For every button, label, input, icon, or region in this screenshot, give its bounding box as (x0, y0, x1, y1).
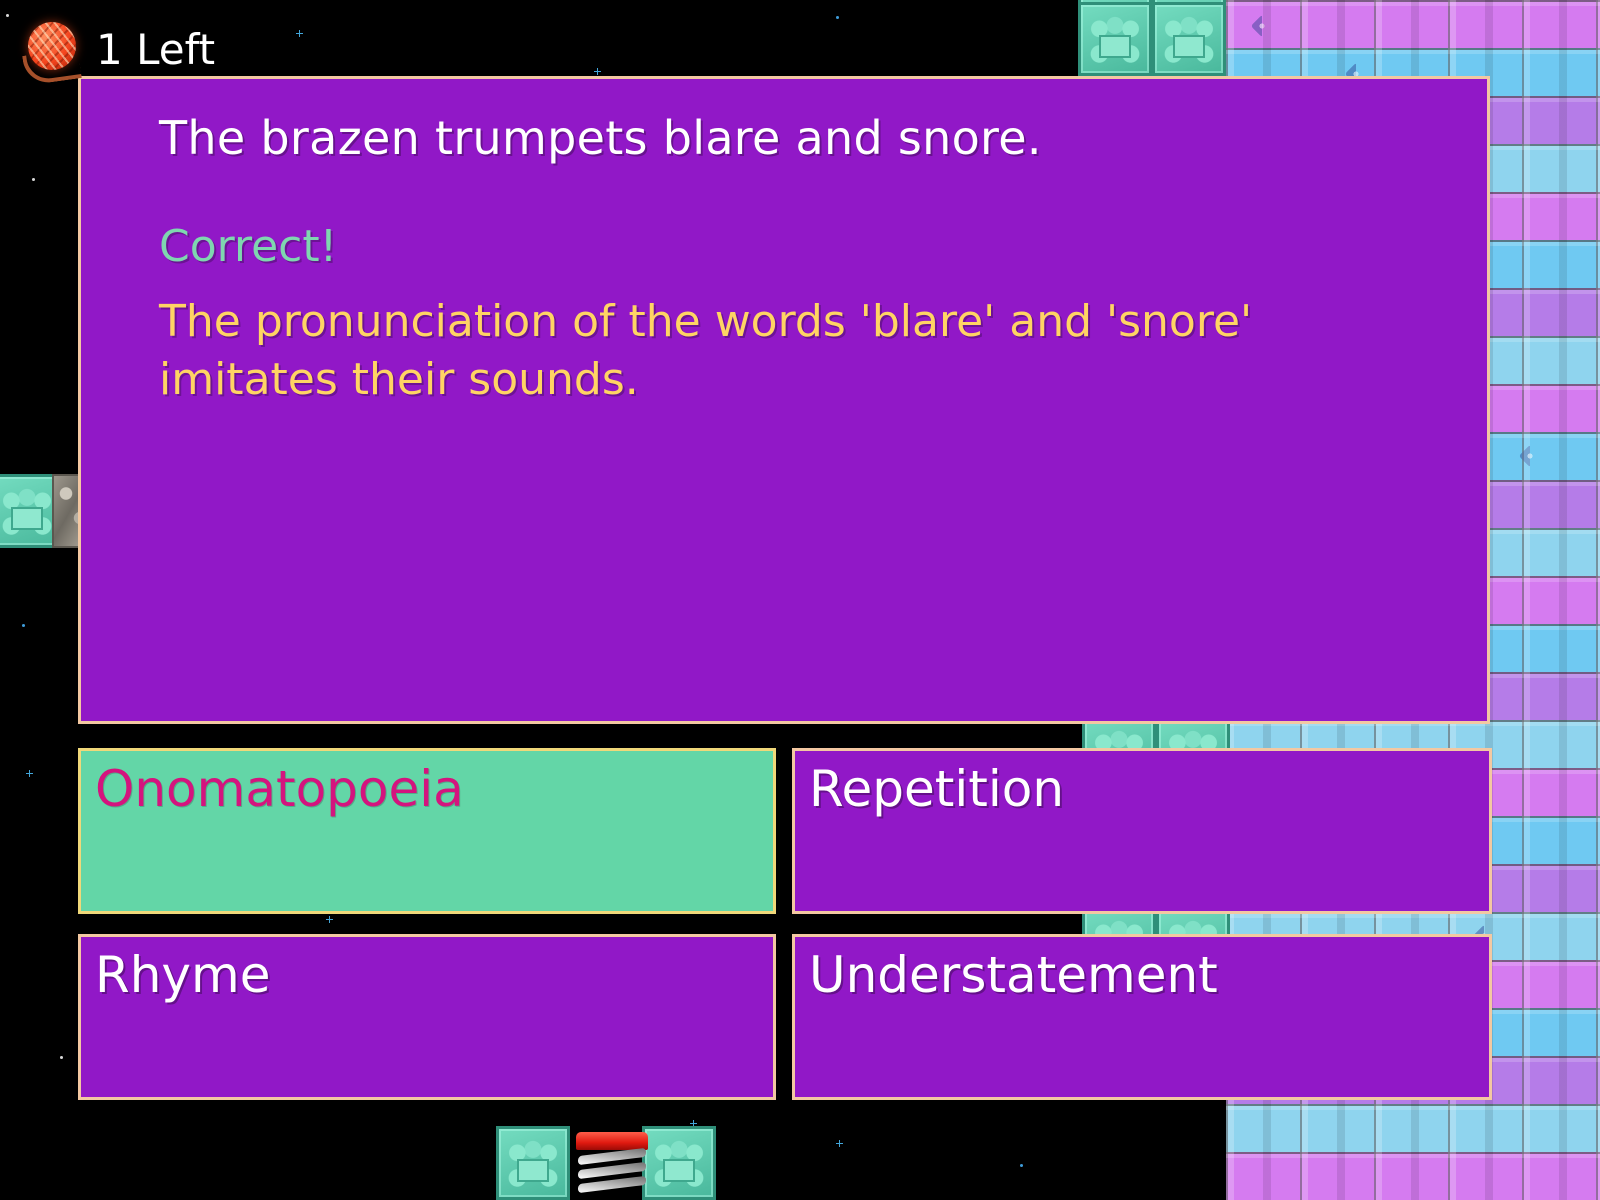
tile-inner-square (1173, 35, 1204, 58)
verdict-text: Correct! (159, 223, 1445, 271)
lives-indicator: 1 Left (24, 22, 215, 78)
star (836, 1140, 843, 1147)
star (6, 14, 9, 17)
star (26, 770, 33, 777)
question-panel: The brazen trumpets blare and snore. Cor… (78, 76, 1490, 724)
answer-label: Onomatopoeia (95, 763, 464, 816)
answer-option-repetition[interactable]: Repetition (792, 748, 1492, 914)
platform-tile-bottom (642, 1126, 716, 1200)
game-screen: 1 Left The brazen trumpets blare and sno… (0, 0, 1600, 1200)
answer-option-onomatopoeia[interactable]: Onomatopoeia (78, 748, 776, 914)
star (836, 16, 839, 19)
explanation-text: The pronunciation of the words 'blare' a… (159, 293, 1339, 409)
platform-tile-bottom (496, 1126, 570, 1200)
question-text: The brazen trumpets blare and snore. (159, 113, 1445, 165)
tile-inner-square (1099, 35, 1130, 58)
star (60, 1056, 63, 1059)
brick-ornament (1251, 15, 1274, 38)
tile-inner-square (517, 1159, 548, 1182)
platform-tile (1152, 2, 1226, 76)
star (32, 178, 35, 181)
lives-label: 1 Left (96, 29, 215, 71)
star (594, 68, 601, 75)
answer-label: Repetition (809, 763, 1064, 816)
answer-label: Rhyme (95, 949, 271, 1002)
yarn-ball-icon (24, 22, 80, 78)
star (296, 30, 303, 37)
star (1020, 1164, 1023, 1167)
answer-option-rhyme[interactable]: Rhyme (78, 934, 776, 1100)
tile-inner-square (11, 507, 42, 530)
star (22, 624, 25, 627)
brick-ornament (1519, 445, 1542, 468)
star (326, 916, 333, 923)
answer-label: Understatement (809, 949, 1218, 1002)
platform-tile (1078, 2, 1152, 76)
spring-cap (576, 1132, 648, 1150)
answer-option-understatement[interactable]: Understatement (792, 934, 1492, 1100)
tile-inner-square (663, 1159, 694, 1182)
